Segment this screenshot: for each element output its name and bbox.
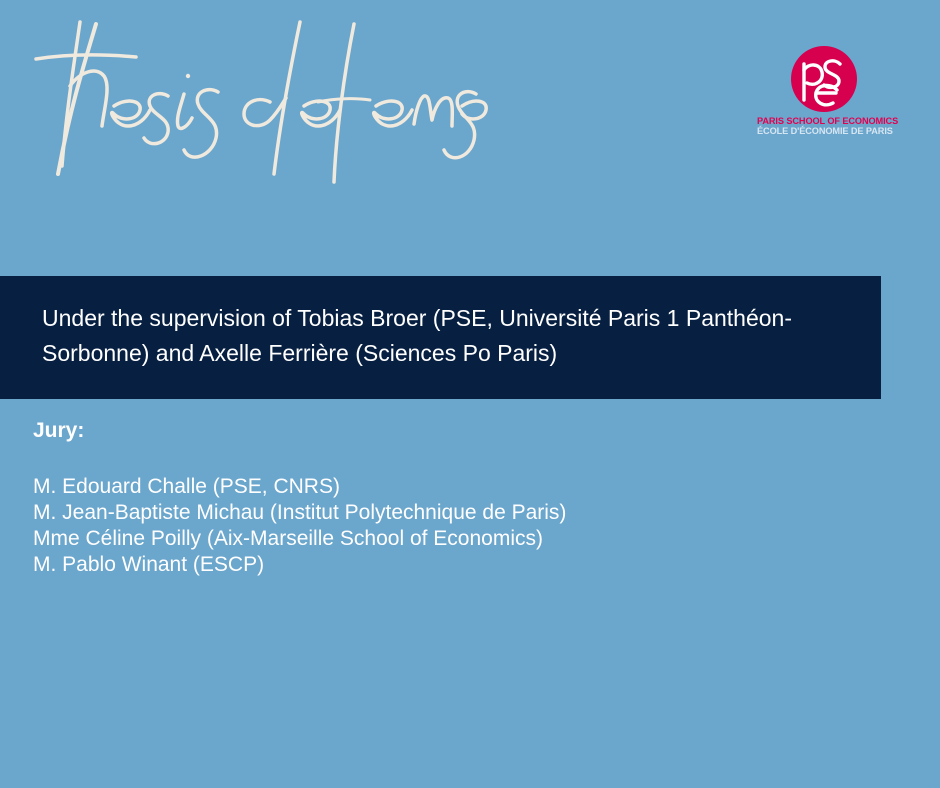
thesis-defense-script-title	[18, 14, 488, 194]
pse-logo: PARIS SCHOOL OF ECONOMICS ÉCOLE D'ÉCONOM…	[757, 46, 889, 140]
supervision-text: Under the supervision of Tobias Broer (P…	[42, 301, 842, 371]
list-item: Mme Céline Poilly (Aix-Marseille School …	[33, 526, 733, 552]
jury-list: M. Edouard Challe (PSE, CNRS) M. Jean-Ba…	[33, 474, 733, 578]
jury-block: Jury: M. Edouard Challe (PSE, CNRS) M. J…	[33, 418, 733, 578]
list-item: M. Edouard Challe (PSE, CNRS)	[33, 474, 733, 500]
pse-logo-line1: PARIS SCHOOL OF ECONOMICS	[757, 116, 889, 126]
supervision-band: Under the supervision of Tobias Broer (P…	[0, 276, 881, 399]
presentation-slide: PARIS SCHOOL OF ECONOMICS ÉCOLE D'ÉCONOM…	[0, 0, 940, 788]
pse-logo-mark	[791, 46, 857, 112]
jury-heading: Jury:	[33, 418, 733, 444]
pse-logo-line2: ÉCOLE D'ÉCONOMIE DE PARIS	[757, 126, 889, 136]
list-item: M. Pablo Winant (ESCP)	[33, 552, 733, 578]
list-item: M. Jean-Baptiste Michau (Institut Polyte…	[33, 500, 733, 526]
